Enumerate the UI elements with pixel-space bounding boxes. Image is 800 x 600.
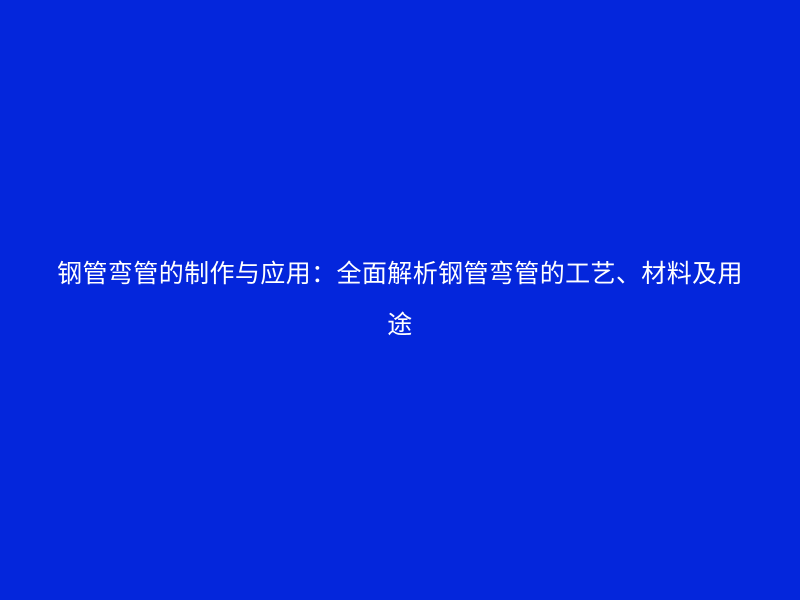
slide-title: 钢管弯管的制作与应用：全面解析钢管弯管的工艺、材料及用途 bbox=[56, 249, 744, 351]
slide-canvas: 钢管弯管的制作与应用：全面解析钢管弯管的工艺、材料及用途 bbox=[0, 0, 800, 600]
title-block: 钢管弯管的制作与应用：全面解析钢管弯管的工艺、材料及用途 bbox=[50, 249, 750, 351]
